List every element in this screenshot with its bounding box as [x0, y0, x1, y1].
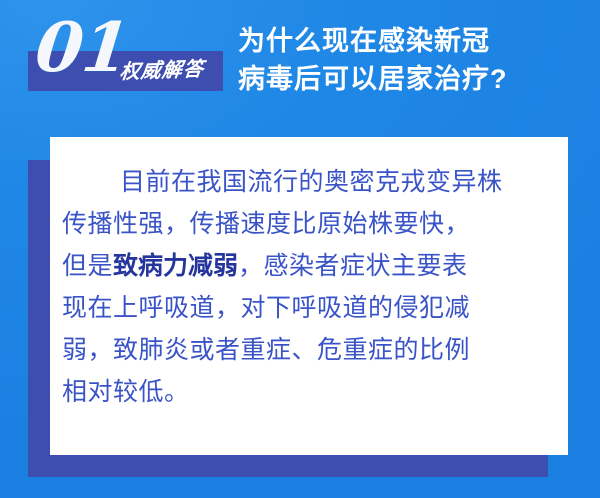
poster-header: 01 权威解答 为什么现在感染新冠 病毒后可以居家治疗?: [0, 0, 600, 130]
page-title-line-2: 病毒后可以居家治疗?: [238, 60, 588, 98]
accent-bar-left: [28, 160, 52, 477]
answer-body-line-3: 但是致病力减弱，感染者症状主要表: [62, 245, 554, 287]
page-title-line-1: 为什么现在感染新冠: [238, 22, 588, 60]
accent-bar-bottom: [28, 455, 548, 477]
answer-body-line-1: 目前在我国流行的奥密克戎变异株: [62, 161, 554, 203]
section-badge-label: 权威解答: [119, 57, 206, 84]
page-title: 为什么现在感染新冠 病毒后可以居家治疗?: [238, 22, 588, 98]
answer-body-emphasis: 致病力减弱: [113, 252, 238, 280]
section-number: 01: [32, 14, 132, 82]
poster-root: 01 权威解答 为什么现在感染新冠 病毒后可以居家治疗? 目前在我国流行的奥密克…: [0, 0, 600, 498]
answer-body-line-4: 现在上呼吸道，对下呼吸道的侵犯减: [62, 287, 554, 329]
answer-body-line-2: 传播性强，传播速度比原始株要快，: [62, 203, 554, 245]
answer-body-line-6: 相对较低。: [62, 371, 554, 413]
answer-body-text: 目前在我国流行的奥密克戎变异株传播性强，传播速度比原始株要快，但是致病力减弱，感…: [62, 161, 554, 413]
answer-card: 目前在我国流行的奥密克戎变异株传播性强，传播速度比原始株要快，但是致病力减弱，感…: [50, 137, 568, 455]
answer-body-line-5: 弱，致肺炎或者重症、危重症的比例: [62, 329, 554, 371]
